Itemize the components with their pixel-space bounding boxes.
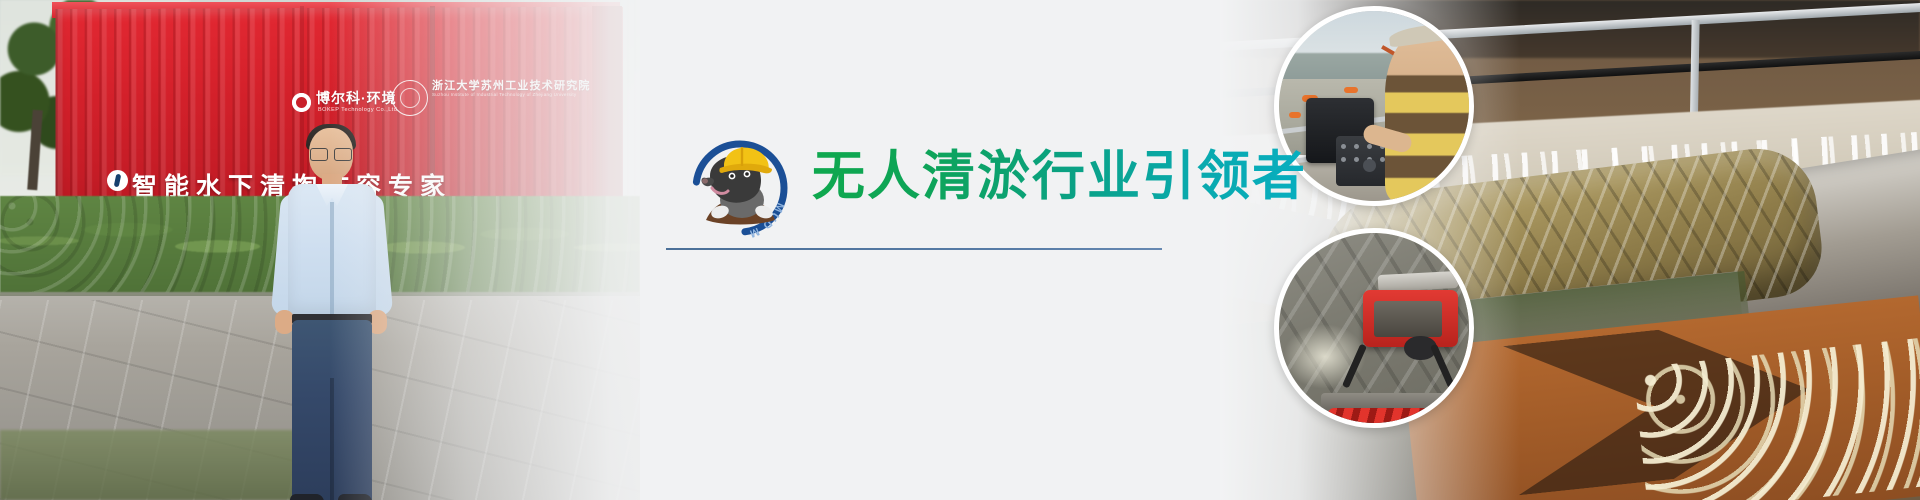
logo-mole-pupil: [730, 174, 734, 178]
page-title: 无人清淤行业引领者: [812, 134, 1307, 210]
mud-mole-logo: MUD MOLE: [680, 128, 800, 248]
title-divider: [666, 248, 1162, 250]
logo-mole-pupil: [745, 172, 749, 176]
logo-mole-nose: [702, 178, 708, 183]
center-content: MUD MOLE: [0, 0, 1920, 500]
mud-mole-logo-svg: MUD MOLE: [680, 128, 800, 248]
hero-banner: 博尔科·环境 BOKEP Technology Co.,Ltd. 浙江大学苏州工…: [0, 0, 1920, 500]
